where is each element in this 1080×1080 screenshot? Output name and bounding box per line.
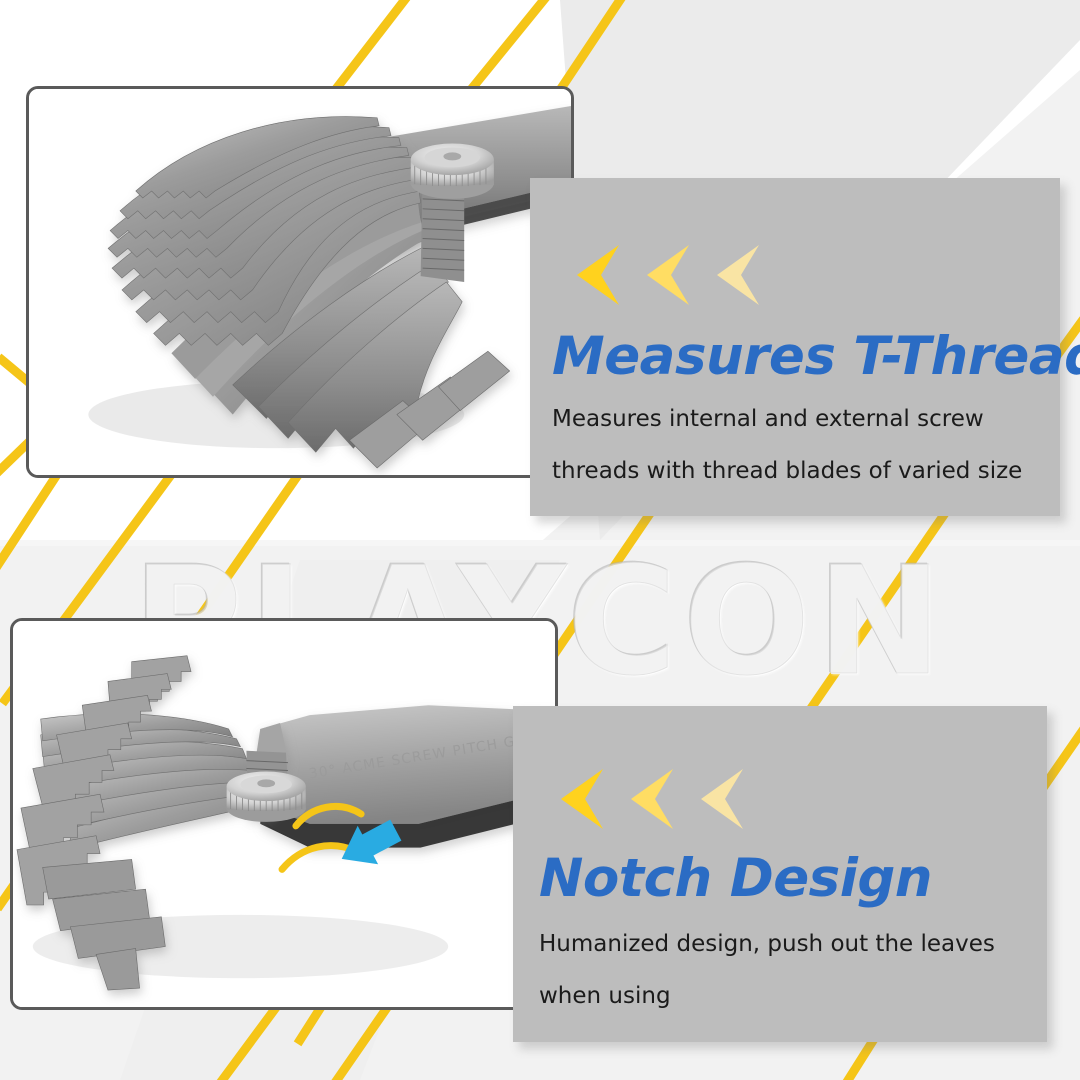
infographic-canvas: PLAYCON (0, 0, 1080, 1080)
panel-body-notch-design: Humanized design, push out the leaves wh… (539, 918, 995, 1022)
photo-frame-fanned-blades (26, 86, 574, 478)
panel-body-line: Measures internal and external screw (552, 393, 1022, 445)
panel-body-measures-t-thread: Measures internal and external screw thr… (552, 393, 1022, 497)
pivot-screw (411, 144, 494, 199)
chevron-left-icon-2 (629, 244, 693, 306)
panel-body-line: Humanized design, push out the leaves (539, 918, 995, 970)
chevron-group (559, 244, 763, 306)
chevron-left-icon-3 (699, 244, 763, 306)
chevron-left-icon-1 (559, 244, 623, 306)
pivot-screw (227, 771, 306, 821)
screw-pitch-gauge-notch-closeup-image: 30° ACME SCREW PITCH GAUGE (13, 621, 555, 1007)
chevron-left-icon-2 (613, 768, 677, 830)
info-panel-measures-t-thread: Measures T-Thread Measures internal and … (530, 178, 1060, 516)
panel-body-line: when using (539, 970, 995, 1022)
panel-title-notch-design: Notch Design (539, 848, 932, 909)
panel-title-measures-t-thread: Measures T-Thread (552, 326, 1080, 387)
screw-pitch-gauge-fanned-blades-image (29, 89, 571, 475)
chevron-group (543, 768, 747, 830)
panel-body-line: threads with thread blades of varied siz… (552, 445, 1022, 497)
info-panel-notch-design: Notch Design Humanized design, push out … (513, 706, 1047, 1042)
chevron-left-icon-3 (683, 768, 747, 830)
chevron-left-icon-1 (543, 768, 607, 830)
photo-frame-notch-closeup: 30° ACME SCREW PITCH GAUGE (10, 618, 558, 1010)
